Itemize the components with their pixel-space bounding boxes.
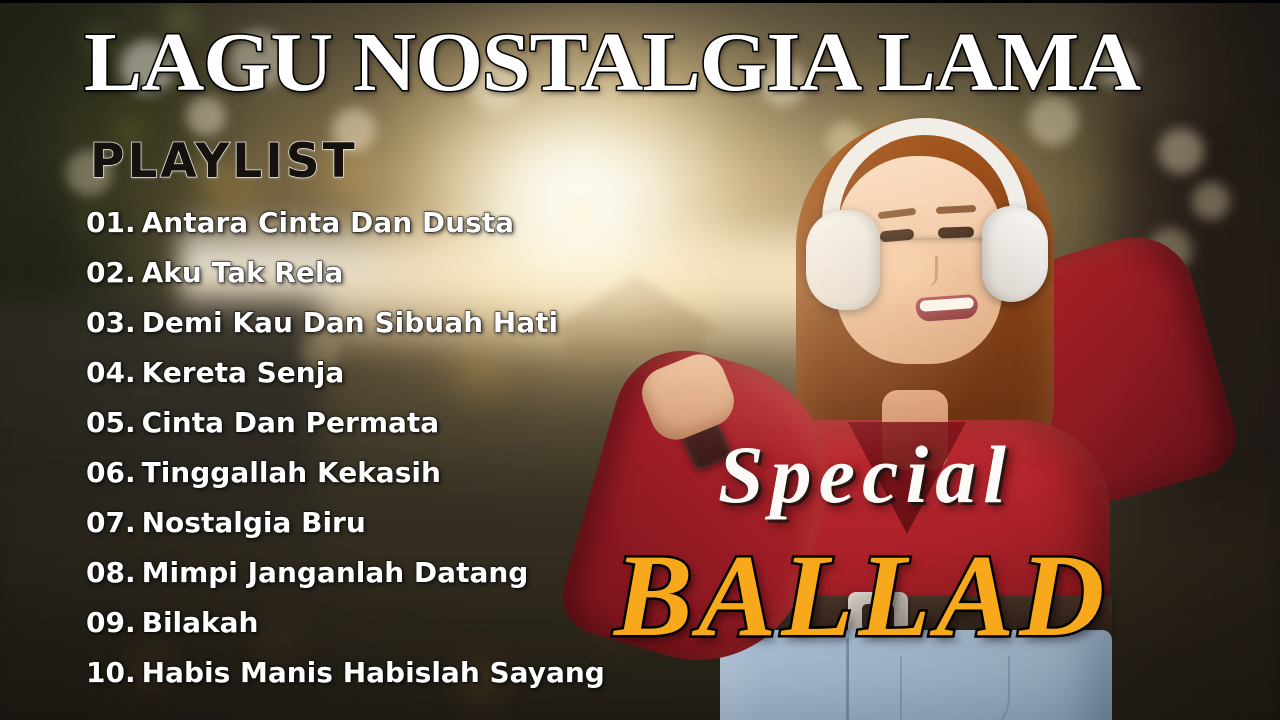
track-number: 05. <box>86 406 136 439</box>
track-title: Demi Kau Dan Sibuah Hati <box>142 306 558 339</box>
track-number: 01. <box>86 206 136 239</box>
track-title: Mimpi Janganlah Datang <box>142 556 529 589</box>
track-title: Aku Tak Rela <box>142 256 344 289</box>
track-number: 08. <box>86 556 136 589</box>
list-item: 04.Kereta Senja <box>86 348 706 398</box>
video-thumbnail: LAGU NOSTALGIA LAMA PLAYLIST 01.Antara C… <box>0 0 1280 720</box>
special-badge-script: Special <box>718 428 1013 522</box>
list-item: 06.Tinggallah Kekasih <box>86 448 706 498</box>
page-title: LAGU NOSTALGIA LAMA <box>84 22 1140 104</box>
ballad-badge-main: BALLAD <box>614 528 1110 664</box>
list-item: 05.Cinta Dan Permata <box>86 398 706 448</box>
list-item: 10.Habis Manis Habislah Sayang <box>86 648 706 698</box>
track-title: Cinta Dan Permata <box>142 406 440 439</box>
track-number: 02. <box>86 256 136 289</box>
tracklist: 01.Antara Cinta Dan Dusta 02.Aku Tak Rel… <box>86 198 706 698</box>
track-title: Kereta Senja <box>142 356 345 389</box>
track-title: Nostalgia Biru <box>142 506 366 539</box>
playlist-heading: PLAYLIST <box>90 134 358 189</box>
track-title: Habis Manis Habislah Sayang <box>142 656 605 689</box>
list-item: 08.Mimpi Janganlah Datang <box>86 548 706 598</box>
list-item: 07.Nostalgia Biru <box>86 498 706 548</box>
track-number: 04. <box>86 356 136 389</box>
track-title: Tinggallah Kekasih <box>142 456 441 489</box>
list-item: 03.Demi Kau Dan Sibuah Hati <box>86 298 706 348</box>
text-overlay: LAGU NOSTALGIA LAMA PLAYLIST 01.Antara C… <box>0 0 1280 720</box>
track-number: 07. <box>86 506 136 539</box>
track-title: Antara Cinta Dan Dusta <box>142 206 514 239</box>
track-number: 03. <box>86 306 136 339</box>
track-title: Bilakah <box>142 606 259 639</box>
track-number: 06. <box>86 456 136 489</box>
track-number: 10. <box>86 656 136 689</box>
track-number: 09. <box>86 606 136 639</box>
list-item: 09.Bilakah <box>86 598 706 648</box>
list-item: 01.Antara Cinta Dan Dusta <box>86 198 706 248</box>
list-item: 02.Aku Tak Rela <box>86 248 706 298</box>
